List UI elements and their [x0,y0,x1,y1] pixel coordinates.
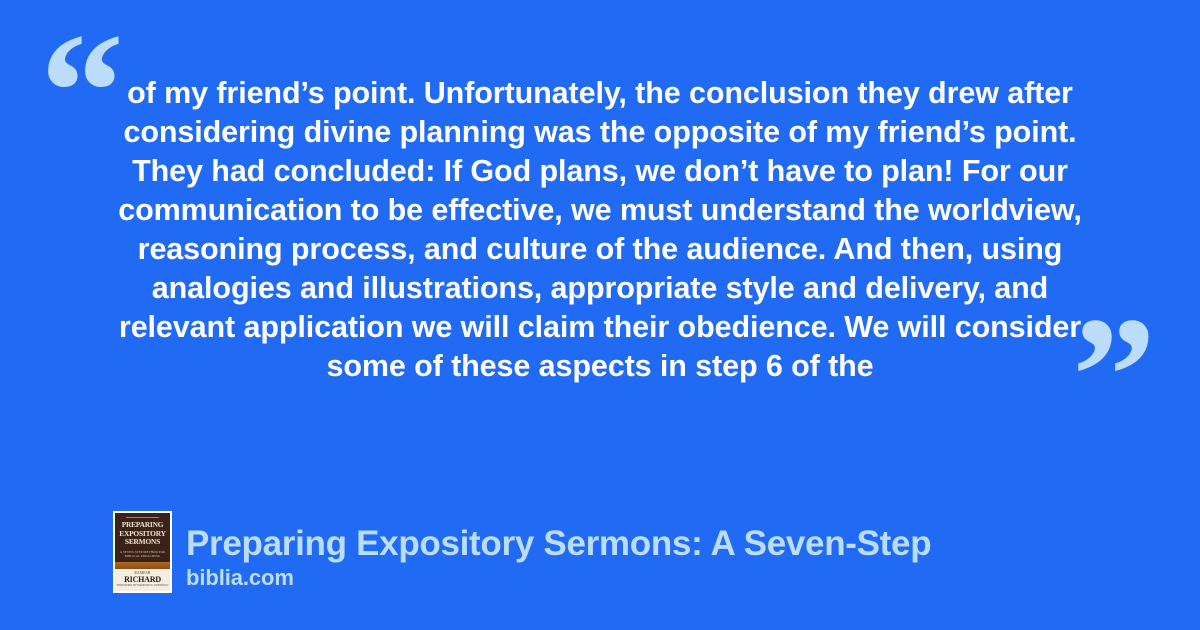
cover-author-last-name: Richard [115,575,170,584]
quote-text: of my friend’s point. Unfortunately, the… [110,74,1090,386]
quote-body: of my friend’s point. Unfortunately, the… [110,74,1090,386]
source-text-block: Preparing Expository Sermons: A Seven-St… [186,524,931,593]
book-cover-thumbnail[interactable]: Preparing Expository Sermons A Seven-Ste… [113,511,172,593]
closing-quote-icon: ” [1072,292,1156,460]
cover-rule [126,517,159,518]
cover-color-band [115,562,170,569]
cover-author-block: Ramesh Richard Foreword by Haddon W. Rob… [115,569,170,591]
site-name[interactable]: biblia.com [186,564,931,591]
cover-title: Preparing Expository Sermons [116,521,169,547]
cover-foreword-credit: Foreword by Haddon W. Robinson [115,584,170,588]
cover-subtitle: A Seven-Step Method for Biblical Preachi… [117,550,168,559]
source-footer: Preparing Expository Sermons A Seven-Ste… [113,511,931,593]
book-title[interactable]: Preparing Expository Sermons: A Seven-St… [186,524,931,564]
quote-card: “ of my friend’s point. Unfortunately, t… [0,0,1200,630]
book-cover-art: Preparing Expository Sermons A Seven-Ste… [115,513,170,591]
